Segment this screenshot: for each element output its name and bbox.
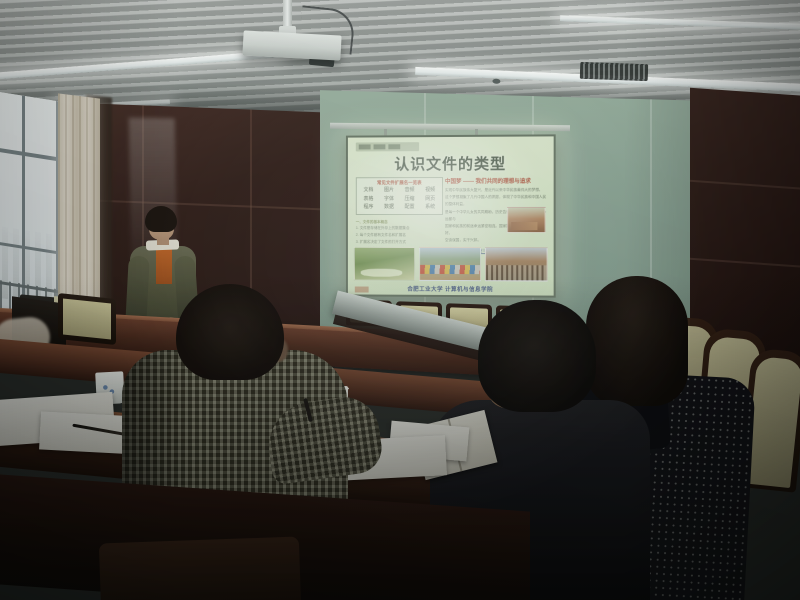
slide-photo [419, 247, 481, 281]
table-cell: 数据 [379, 204, 399, 211]
slide-photo [354, 247, 415, 281]
table-cell: 音频 [400, 187, 420, 195]
slide-toolbar [356, 142, 419, 151]
extension-table-grid: 文档 图片 音频 视频 表格 字体 压缩 网页 程序 数据 配置 系统 [359, 187, 440, 212]
table-cell: 程序 [359, 204, 378, 211]
reader-hair [478, 300, 596, 412]
panel-seam [84, 199, 336, 211]
ceiling-projector [242, 30, 341, 60]
conference-chair [58, 293, 116, 345]
table-cell: 网页 [420, 196, 440, 204]
table-cell: 系统 [420, 204, 440, 212]
presenter-hair [145, 206, 177, 232]
table-cell: 图片 [379, 187, 399, 195]
toolbar-chip [388, 144, 400, 149]
panel-seam [690, 258, 800, 268]
table-cell: 字体 [379, 196, 399, 203]
air-vent-icon [580, 62, 649, 81]
slide-photo-strip [354, 247, 548, 282]
extension-table: 常见文件扩展名一览表 文档 图片 音频 视频 表格 字体 压缩 网页 程序 数据… [356, 177, 443, 214]
table-cell: 配置 [400, 204, 420, 211]
table-cell: 表格 [359, 196, 378, 203]
conference-chair [99, 537, 301, 600]
polka-dot-hair [586, 276, 688, 406]
slide-footer: 合肥工业大学 计算机与信息学院 [348, 284, 554, 293]
table-cell: 文档 [359, 187, 378, 194]
extension-table-header: 常见文件扩展名一览表 [359, 180, 440, 186]
slide-inline-photo [507, 207, 545, 233]
conference-room-photo: 认识文件的类型 常见文件扩展名一览表 文档 图片 音频 视频 表格 字体 压缩 … [0, 0, 800, 600]
panel-seam [690, 180, 800, 190]
paragraph-line: 空谈误国，实干兴邦。 [445, 237, 548, 244]
table-cell: 视频 [420, 187, 440, 195]
projection-screen[interactable]: 认识文件的类型 常见文件扩展名一览表 文档 图片 音频 视频 表格 字体 压缩 … [346, 134, 556, 297]
slide-body: 常见文件扩展名一览表 文档 图片 音频 视频 表格 字体 压缩 网页 程序 数据… [354, 177, 548, 248]
chair-pad [63, 298, 111, 339]
toolbar-chip [359, 144, 371, 149]
toolbar-chip [374, 144, 386, 149]
table-cell: 压缩 [400, 196, 420, 204]
slide-title: 认识文件的类型 [348, 153, 554, 175]
slide-left-column: 常见文件扩展名一览表 文档 图片 音频 视频 表格 字体 压缩 网页 程序 数据… [356, 177, 437, 253]
slide-photo [485, 247, 548, 281]
right-column-heading: 中国梦 —— 我们共同的理想与追求 [445, 177, 548, 185]
